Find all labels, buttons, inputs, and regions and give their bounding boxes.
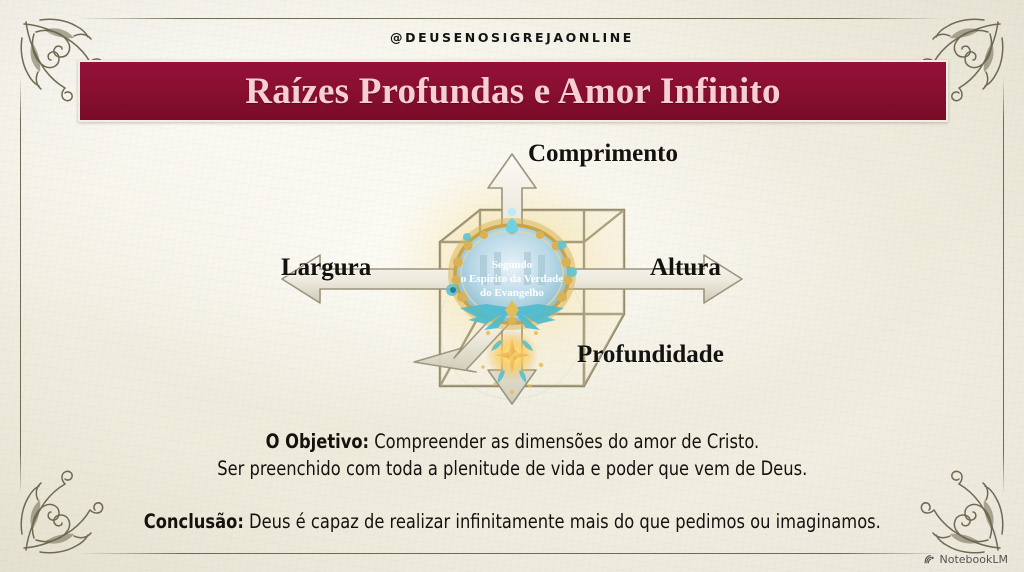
conclusion-label: Conclusão: [143,510,243,533]
frame-line-top [78,18,946,19]
notebooklm-watermark: NotebookLM [923,553,1008,566]
watermark-label: NotebookLM [940,553,1008,566]
objective-line-2: Ser preenchido com toda a plenitude de v… [0,455,1024,482]
objective-text: Compreender as dimensões do amor de Cris… [369,430,759,453]
frame-line-bottom [78,553,946,554]
channel-handle: @DEUSENOSIGREJAONLINE [0,30,1024,45]
label-profundidade: Profundidade [577,341,724,369]
page-title: Raízes Profundas e Amor Infinito [245,73,780,110]
conclusion-block: Conclusão: Deus é capaz de realizar infi… [0,509,1024,535]
notebooklm-logo-icon [923,553,936,566]
objective-block: O Objetivo: Compreender as dimensões do … [0,428,1024,482]
label-altura: Altura [650,254,721,282]
label-comprimento: Comprimento [528,140,678,168]
emblem-line-3: do Evangelho [480,287,544,299]
label-largura: Largura [281,254,371,282]
conclusion-text: Deus é capaz de realizar infinitamente m… [244,510,881,533]
objective-line-1: O Objetivo: Compreender as dimensões do … [0,428,1024,455]
emblem-line-2: o Espírito da Verdade [461,273,563,285]
objective-label: O Objetivo: [265,430,369,453]
emblem-line-1: Segundo [492,259,533,271]
title-banner: Raízes Profundas e Amor Infinito [78,60,948,122]
slide-canvas: @DEUSENOSIGREJAONLINE Raízes Profundas e… [0,0,1024,572]
